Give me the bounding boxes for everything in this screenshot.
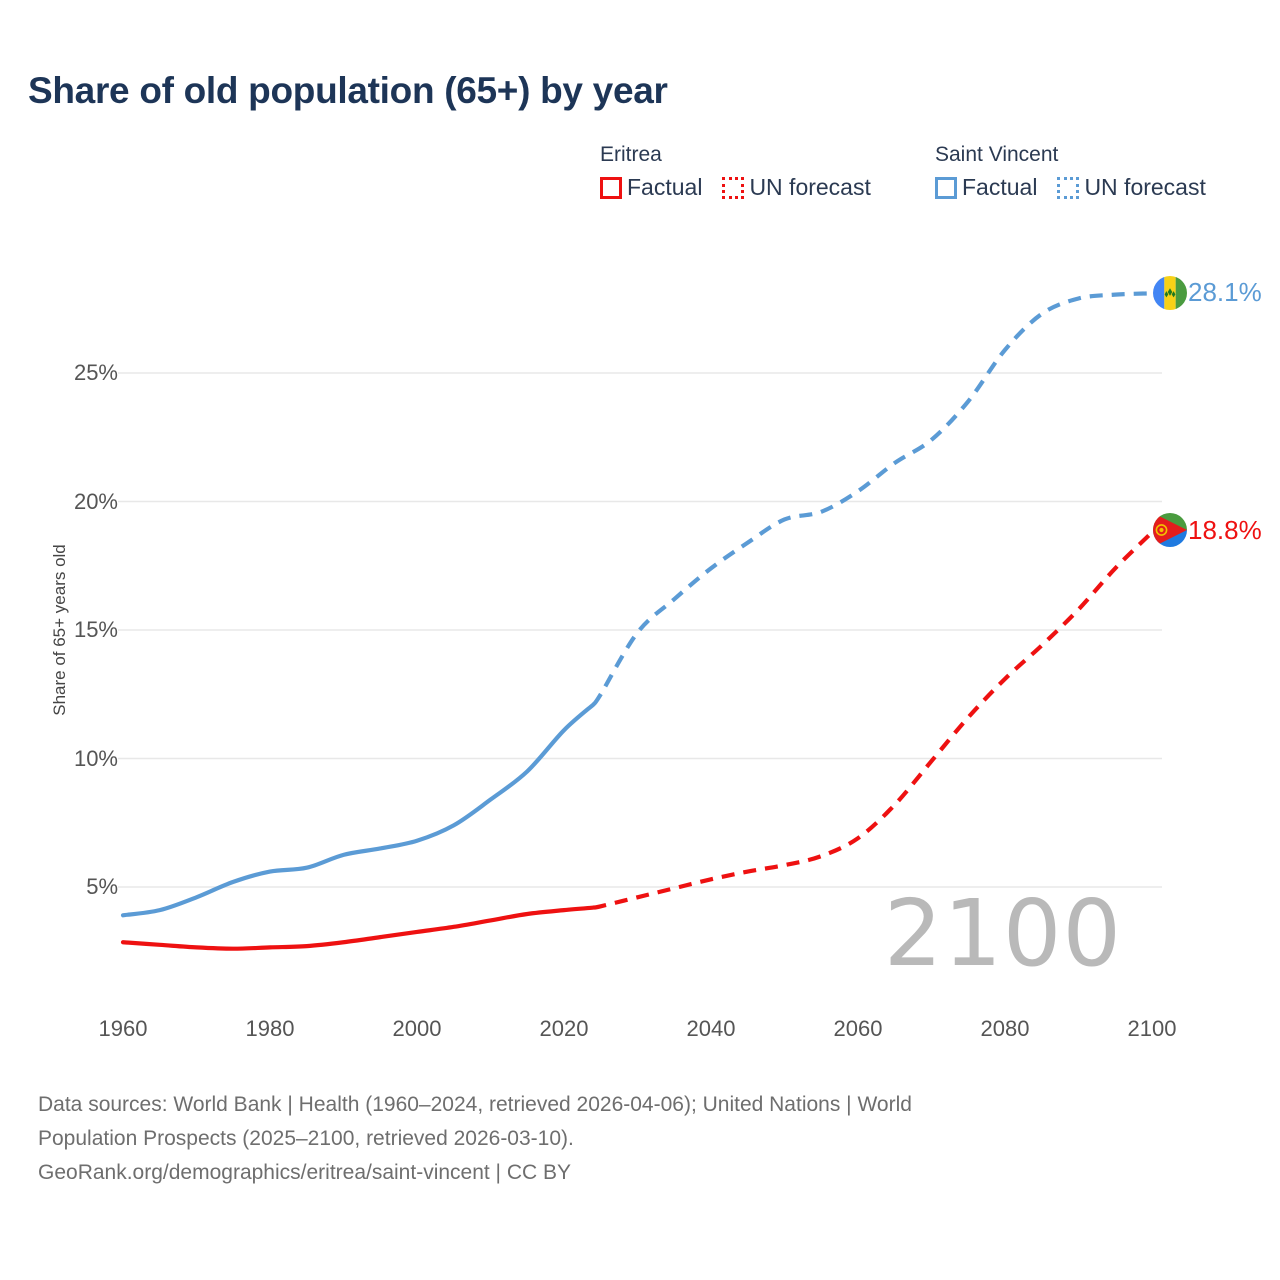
x-tick-label: 1980 — [246, 1016, 295, 1042]
eritrea-flag-icon — [1153, 513, 1187, 547]
x-tick-label: 1960 — [99, 1016, 148, 1042]
year-watermark: 2100 — [884, 888, 1122, 980]
x-tick-label: 2080 — [981, 1016, 1030, 1042]
footer-line-3[interactable]: GeoRank.org/demographics/eritrea/saint-v… — [38, 1156, 1238, 1190]
x-tick-label: 2000 — [393, 1016, 442, 1042]
end-value-saint-vincent: 28.1% — [1188, 277, 1262, 308]
y-tick-label: 25% — [74, 360, 118, 386]
footer-sources: Data sources: World Bank | Health (1960–… — [38, 1088, 1238, 1190]
y-tick-label: 20% — [74, 489, 118, 515]
y-tick-label: 15% — [74, 617, 118, 643]
x-tick-label: 2060 — [834, 1016, 883, 1042]
y-tick-label: 5% — [86, 874, 118, 900]
gridlines — [118, 373, 1162, 887]
series-lines — [123, 293, 1152, 948]
x-tick-label: 2100 — [1128, 1016, 1177, 1042]
footer-line-1: Data sources: World Bank | Health (1960–… — [38, 1088, 1238, 1122]
x-tick-label: 2040 — [687, 1016, 736, 1042]
chart-container: Share of old population (65+) by year Er… — [0, 0, 1280, 1280]
saint-vincent-flag-icon — [1153, 276, 1187, 310]
x-tick-label: 2020 — [540, 1016, 589, 1042]
y-tick-label: 10% — [74, 746, 118, 772]
footer-line-2: Population Prospects (2025–2100, retriev… — [38, 1122, 1238, 1156]
end-value-eritrea: 18.8% — [1188, 515, 1262, 546]
y-axis-title: Share of 65+ years old — [50, 500, 70, 760]
